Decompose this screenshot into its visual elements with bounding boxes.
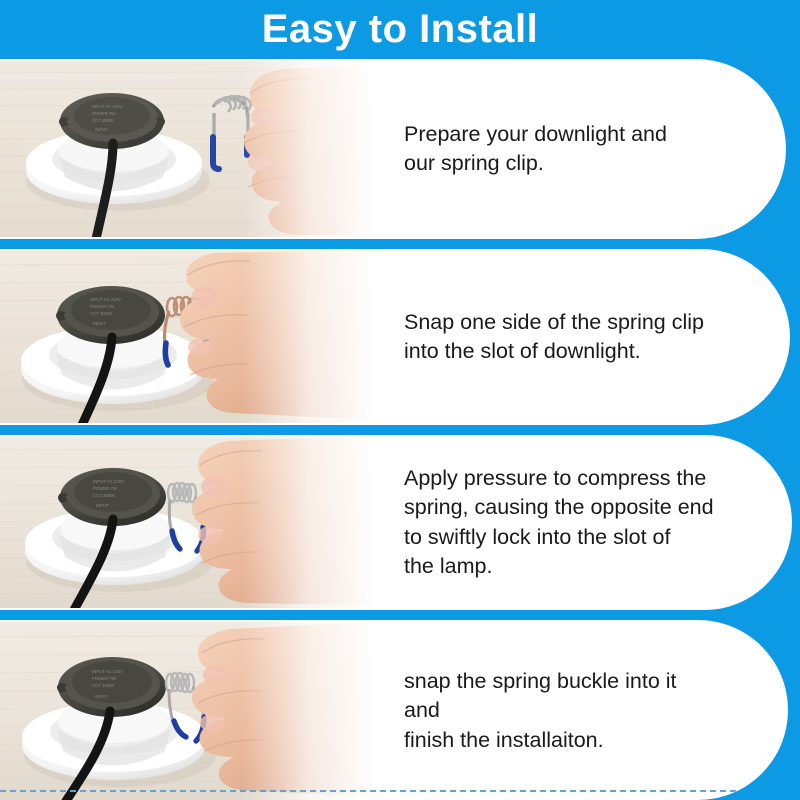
step-1-caption-text: Prepare your downlight and our spring cl…: [404, 120, 667, 178]
step-panel-2: INPUT AC 220V POWER 7W CCT 3000K INPUT: [0, 249, 790, 425]
step-2-caption: Snap one side of the spring clip into th…: [392, 251, 788, 423]
step-2-photo: INPUT AC 220V POWER 7W CCT 3000K INPUT: [0, 251, 392, 423]
svg-text:CCT 3000K: CCT 3000K: [93, 493, 116, 498]
step-panel-4: INPUT AC 220V POWER 7W CCT 3000K INPUT: [0, 620, 788, 800]
svg-text:INPUT AC 220V: INPUT AC 220V: [93, 479, 124, 484]
svg-text:INPUT: INPUT: [96, 503, 109, 508]
step-3-photo: INPUT AC 220V POWER 7W CCT 3000K INPUT: [0, 437, 392, 608]
step-2-caption-text: Snap one side of the spring clip into th…: [404, 308, 704, 366]
step-1-photo: INPUT AC 220V POWER 7W CCT 3000K INPUT: [0, 61, 392, 237]
step-panel-3: INPUT AC 220V POWER 7W CCT 3000K INPUT: [0, 435, 792, 610]
downlight-spring-clip-illustration: INPUT AC 220V POWER 7W CCT 3000K INPUT: [0, 61, 392, 237]
snap-first-side-illustration: INPUT AC 220V POWER 7W CCT 3000K INPUT: [0, 251, 392, 423]
svg-text:INPUT: INPUT: [93, 321, 106, 326]
svg-text:INPUT AC 220V: INPUT AC 220V: [92, 669, 123, 674]
svg-text:INPUT AC 220V: INPUT AC 220V: [90, 297, 121, 302]
svg-text:POWER 7W: POWER 7W: [90, 304, 115, 309]
svg-text:CCT 3000K: CCT 3000K: [92, 683, 115, 688]
hand: [192, 437, 392, 606]
step-3-caption: Apply pressure to compress the spring, c…: [392, 437, 790, 608]
page-title: Easy to Install: [262, 9, 538, 49]
step-4-photo: INPUT AC 220V POWER 7W CCT 3000K INPUT: [0, 622, 392, 800]
step-1-caption: Prepare your downlight and our spring cl…: [392, 61, 784, 237]
step-4-caption: snap the spring buckle into it and finis…: [392, 622, 786, 800]
hand: [192, 622, 392, 797]
svg-text:INPUT: INPUT: [95, 694, 108, 699]
finished-installation-illustration: INPUT AC 220V POWER 7W CCT 3000K INPUT: [0, 622, 392, 800]
hand: [180, 251, 392, 421]
step-4-caption-text: snap the spring buckle into it and finis…: [404, 667, 716, 754]
svg-text:POWER 7W: POWER 7W: [93, 486, 118, 491]
svg-text:CCT 3000K: CCT 3000K: [90, 311, 113, 316]
compress-spring-illustration: INPUT AC 220V POWER 7W CCT 3000K INPUT: [0, 437, 392, 608]
step-3-caption-text: Apply pressure to compress the spring, c…: [404, 464, 714, 580]
svg-text:POWER 7W: POWER 7W: [92, 676, 117, 681]
header-banner: Easy to Install: [0, 0, 800, 57]
bottom-dashed-divider: [0, 790, 786, 792]
infographic-page: Easy to Install: [0, 0, 800, 800]
step-panel-1: INPUT AC 220V POWER 7W CCT 3000K INPUT: [0, 59, 786, 239]
